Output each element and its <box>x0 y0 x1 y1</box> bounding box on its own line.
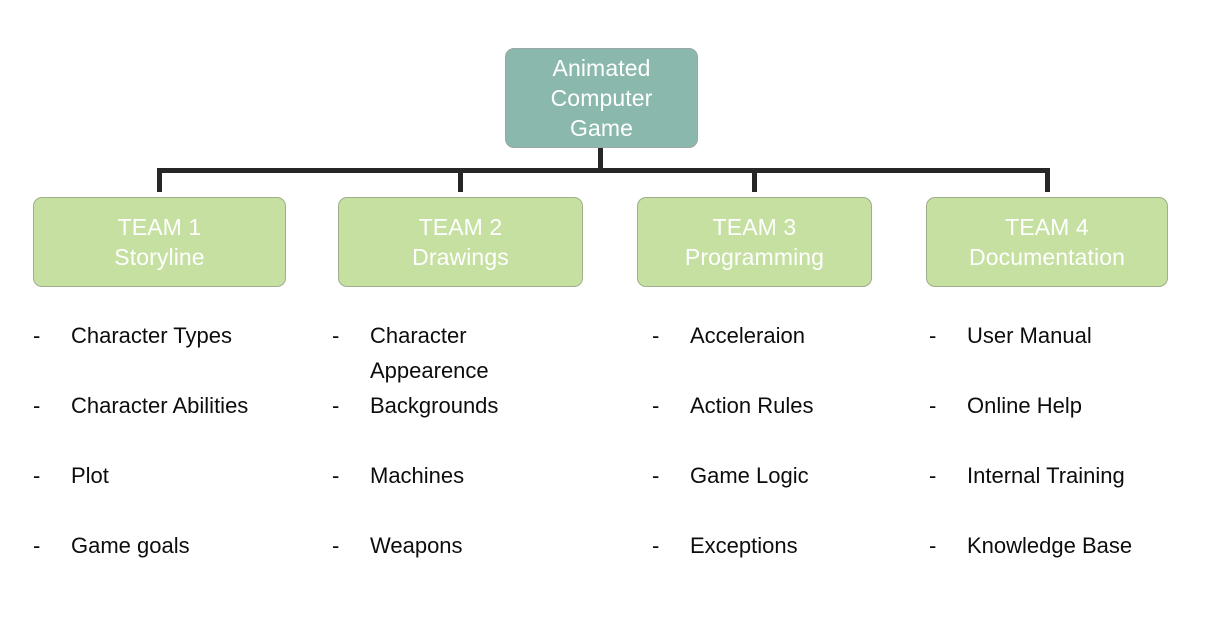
team-node-4-documentation[interactable]: TEAM 4 Documentation <box>926 197 1168 287</box>
list-item: - Internal Training <box>929 458 1214 528</box>
list-item-label: Acceleraion <box>690 318 932 353</box>
list-item-label: User Manual <box>967 318 1214 353</box>
root-node-line-2: Computer <box>551 83 653 113</box>
bullet-dash-icon: - <box>929 528 964 563</box>
team-node-3-programming[interactable]: TEAM 3 Programming <box>637 197 872 287</box>
team-4-subheading: Documentation <box>969 242 1125 272</box>
bullet-list-team-3: - Acceleraion - Action Rules - Game Logi… <box>652 318 932 598</box>
connector-drop-team-1 <box>157 168 162 192</box>
team-1-subheading: Storyline <box>114 242 204 272</box>
list-item: - Knowledge Base <box>929 528 1214 598</box>
team-node-2-drawings[interactable]: TEAM 2 Drawings <box>338 197 583 287</box>
list-item-label: Internal Training <box>967 458 1214 493</box>
list-item-label: Character Types <box>71 318 333 353</box>
bullet-dash-icon: - <box>332 388 367 423</box>
connector-horizontal-bar <box>157 168 1050 173</box>
list-item: - Character Abilities <box>33 388 333 458</box>
team-2-subheading: Drawings <box>412 242 509 272</box>
list-item-label: Character Appearence <box>370 318 632 388</box>
list-item-label: Plot <box>71 458 333 493</box>
root-node-line-1: Animated <box>553 53 651 83</box>
bullet-dash-icon: - <box>652 318 687 353</box>
bullet-dash-icon: - <box>929 318 964 353</box>
team-2-heading: TEAM 2 <box>419 212 503 242</box>
list-item: - Action Rules <box>652 388 932 458</box>
list-item: - Game goals <box>33 528 333 598</box>
list-item-label: Weapons <box>370 528 632 563</box>
bullet-list-team-2: - Character Appearence - Backgrounds - M… <box>332 318 632 598</box>
org-chart-canvas: Animated Computer Game TEAM 1 Storyline … <box>0 0 1218 632</box>
bullet-dash-icon: - <box>929 458 964 493</box>
team-3-subheading: Programming <box>685 242 824 272</box>
bullet-dash-icon: - <box>33 528 68 563</box>
list-item-label: Action Rules <box>690 388 932 423</box>
list-item: - Backgrounds <box>332 388 632 458</box>
list-item-label: Game goals <box>71 528 333 563</box>
bullet-dash-icon: - <box>652 528 687 563</box>
root-node-line-3: Game <box>570 113 633 143</box>
list-item: - Online Help <box>929 388 1214 458</box>
team-3-heading: TEAM 3 <box>713 212 797 242</box>
root-node-animated-computer-game[interactable]: Animated Computer Game <box>505 48 698 148</box>
bullet-dash-icon: - <box>652 388 687 423</box>
team-1-heading: TEAM 1 <box>118 212 202 242</box>
list-item: - Exceptions <box>652 528 932 598</box>
connector-drop-team-3 <box>752 168 757 192</box>
list-item-label: Game Logic <box>690 458 932 493</box>
list-item-label: Character Abilities <box>71 388 333 423</box>
list-item-label: Exceptions <box>690 528 932 563</box>
list-item-label: Online Help <box>967 388 1214 423</box>
list-item: - Plot <box>33 458 333 528</box>
team-node-1-storyline[interactable]: TEAM 1 Storyline <box>33 197 286 287</box>
bullet-dash-icon: - <box>332 318 367 353</box>
team-4-heading: TEAM 4 <box>1005 212 1089 242</box>
bullet-dash-icon: - <box>33 458 68 493</box>
bullet-dash-icon: - <box>332 458 367 493</box>
list-item: - Game Logic <box>652 458 932 528</box>
bullet-dash-icon: - <box>929 388 964 423</box>
bullet-dash-icon: - <box>332 528 367 563</box>
bullet-dash-icon: - <box>33 318 68 353</box>
connector-drop-team-2 <box>458 168 463 192</box>
list-item: - Character Appearence <box>332 318 632 388</box>
connector-drop-team-4 <box>1045 168 1050 192</box>
list-item: - Acceleraion <box>652 318 932 388</box>
bullet-list-team-4: - User Manual - Online Help - Internal T… <box>929 318 1214 598</box>
bullet-dash-icon: - <box>652 458 687 493</box>
list-item: - User Manual <box>929 318 1214 388</box>
list-item: - Machines <box>332 458 632 528</box>
list-item: - Weapons <box>332 528 632 598</box>
list-item-label: Machines <box>370 458 632 493</box>
list-item-label: Backgrounds <box>370 388 632 423</box>
list-item-label: Knowledge Base <box>967 528 1214 563</box>
bullet-dash-icon: - <box>33 388 68 423</box>
bullet-list-team-1: - Character Types - Character Abilities … <box>33 318 333 598</box>
list-item: - Character Types <box>33 318 333 388</box>
